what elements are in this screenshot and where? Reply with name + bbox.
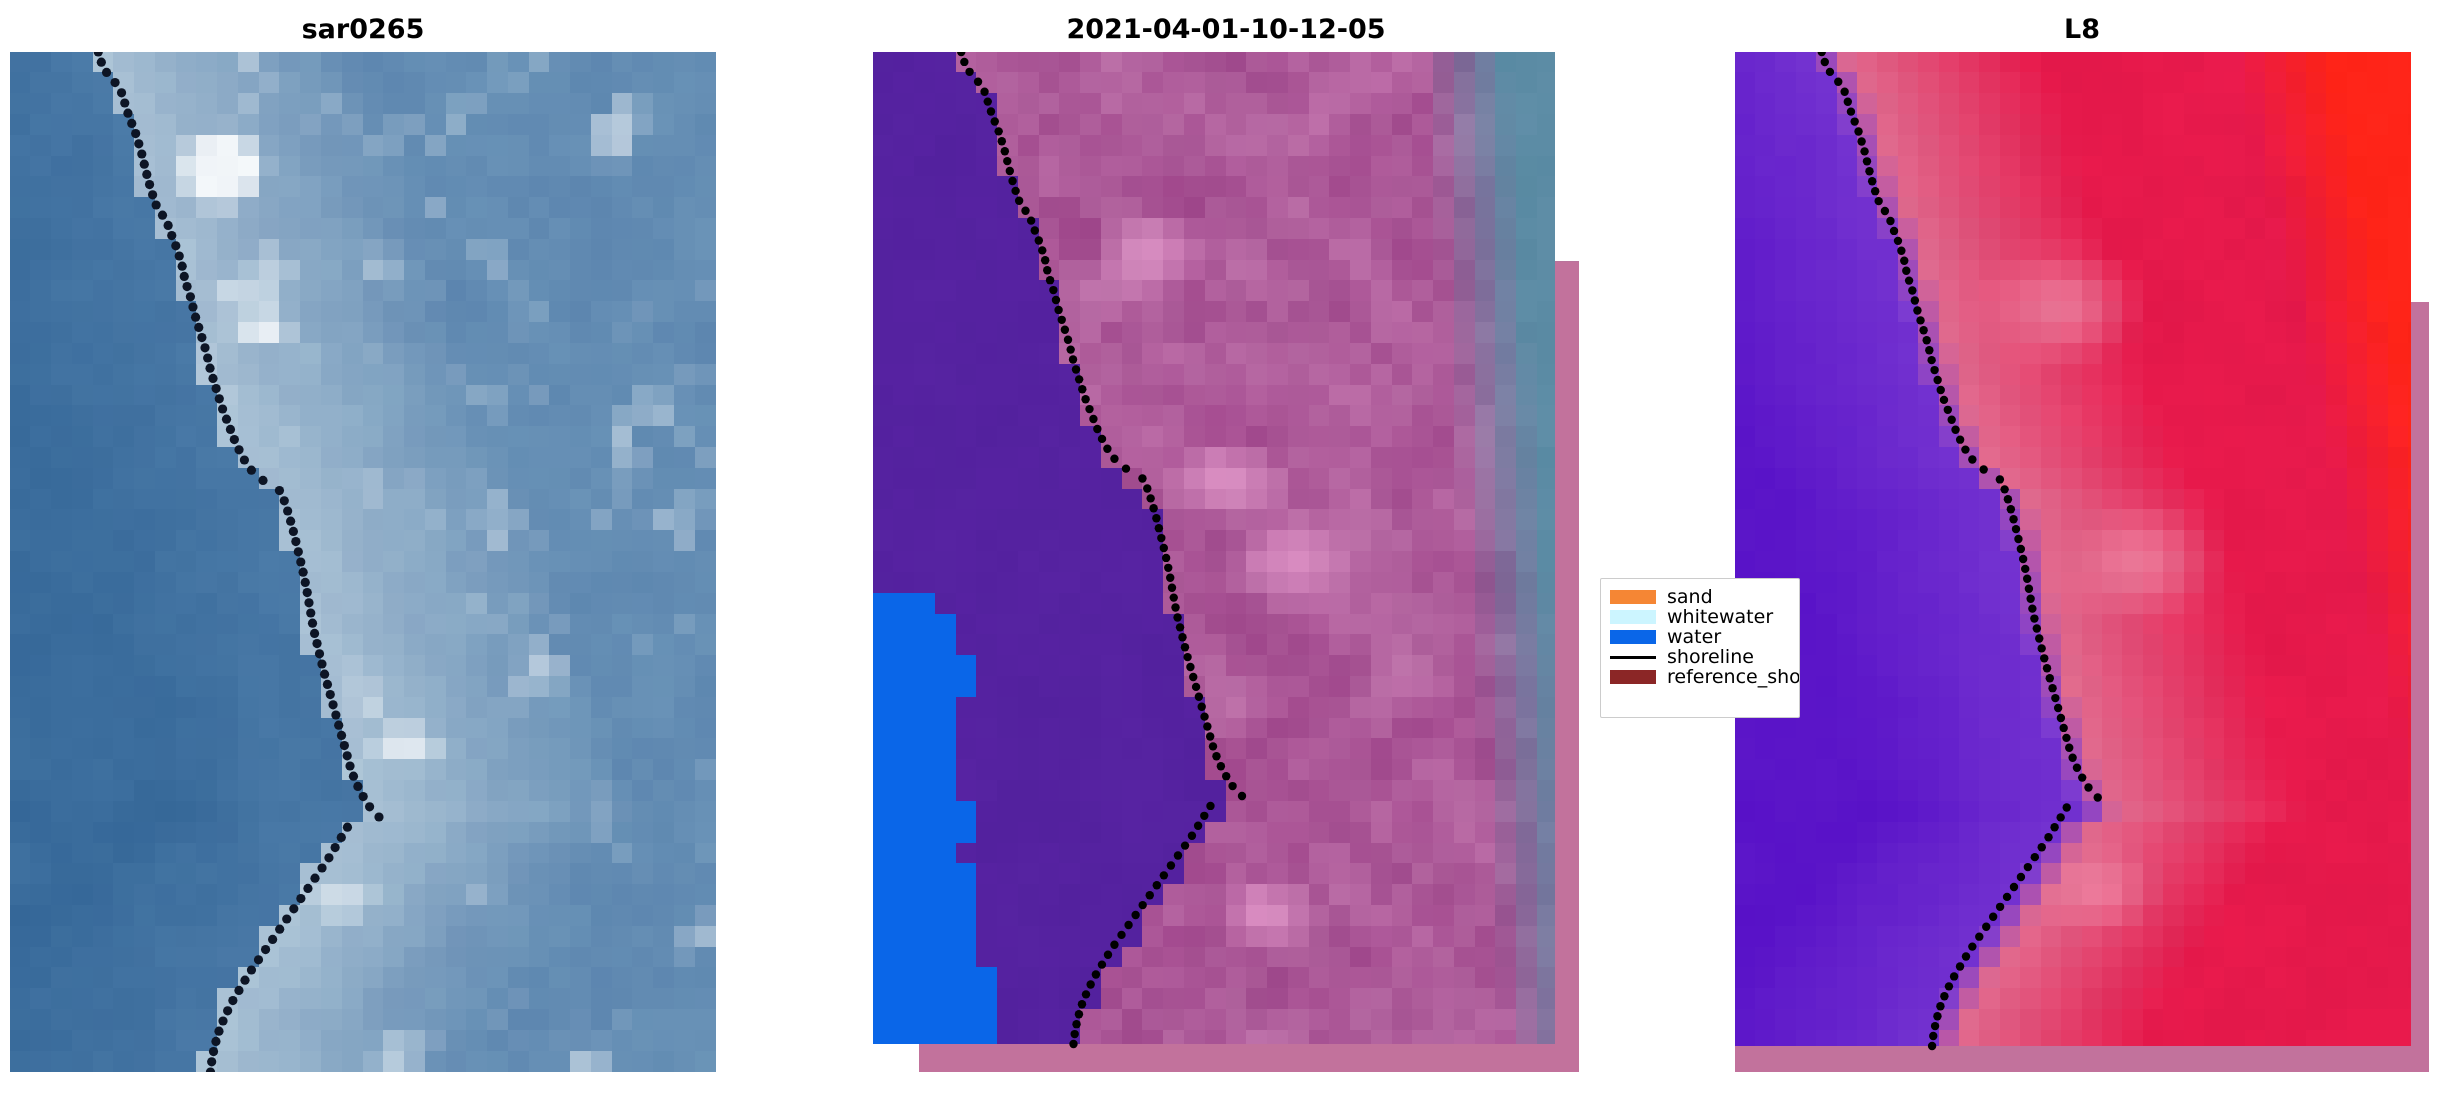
legend-item-water[interactable]: water (1610, 627, 1790, 647)
legend-swatch-reference-shoreline (1610, 670, 1656, 684)
panel-raster-classified[interactable] (873, 52, 1579, 1072)
panel-title-l8: L8 (1735, 16, 2429, 43)
legend-item-sand[interactable]: sand (1610, 587, 1790, 607)
legend-swatch-water (1610, 630, 1656, 644)
legend-item-whitewater[interactable]: whitewater (1610, 607, 1790, 627)
panel-l8: L8 (1735, 8, 2429, 1072)
legend-label-water: water (1667, 627, 1721, 647)
legend: sandwhitewaterwatershorelinereference_sh… (1600, 578, 1800, 718)
legend-label-reference-shoreline: reference_shoreline (1667, 667, 1800, 687)
legend-swatch-whitewater (1610, 610, 1656, 624)
panel-title-sar: sar0265 (10, 16, 716, 43)
figure-root: sar0265 2021-04-01-10-12-05 L8 sandwhite… (0, 0, 2460, 1096)
panel-raster-sar[interactable] (10, 52, 716, 1072)
legend-swatch-sand (1610, 590, 1656, 604)
legend-item-reference-shoreline[interactable]: reference_shoreline (1610, 667, 1790, 687)
panel-sar: sar0265 (10, 8, 716, 1072)
panel-raster-l8[interactable] (1735, 52, 2429, 1072)
panel-classified: 2021-04-01-10-12-05 (873, 8, 1579, 1072)
legend-label-sand: sand (1667, 587, 1713, 607)
legend-label-whitewater: whitewater (1667, 607, 1773, 627)
legend-line-marker-shoreline (1610, 650, 1656, 664)
panel-title-classified: 2021-04-01-10-12-05 (873, 16, 1579, 43)
legend-item-shoreline[interactable]: shoreline (1610, 647, 1790, 667)
legend-label-shoreline: shoreline (1667, 647, 1754, 667)
